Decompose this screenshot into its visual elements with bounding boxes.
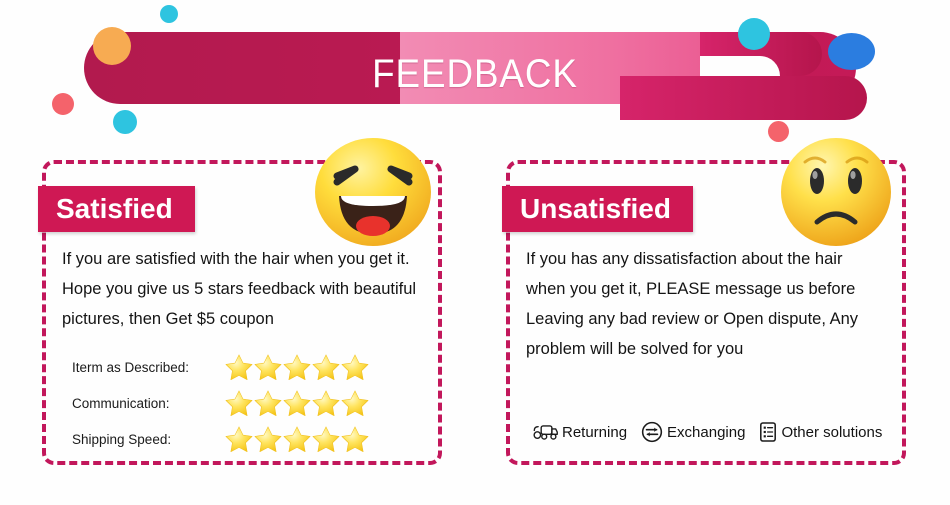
star-icon [282, 424, 312, 454]
star-icon [311, 424, 341, 454]
dot-cyan-top-right [738, 18, 770, 50]
feedback-banner-page: FEEDBACK Satisfied If you are satisfied … [0, 0, 950, 505]
unsatisfied-description: If you has any dissatisfaction about the… [526, 244, 886, 364]
solutions-row: Returning Exchanging [532, 421, 896, 443]
satisfied-badge: Satisfied [38, 186, 195, 232]
rating-label-communication: Communication: [72, 396, 220, 411]
rating-row: Shipping Speed: [72, 421, 437, 457]
star-icon [253, 388, 283, 418]
solution-label: Exchanging [667, 424, 745, 441]
star-icon [253, 424, 283, 454]
rating-row: Iterm as Described: [72, 349, 437, 385]
star-icon [224, 424, 254, 454]
exchange-arrows-icon [641, 421, 663, 443]
rating-row: Communication: [72, 385, 437, 421]
header-banner: FEEDBACK [0, 0, 950, 140]
truck-icon [532, 422, 558, 442]
unsatisfied-badge: Unsatisfied [502, 186, 693, 232]
star-icon [311, 388, 341, 418]
star-icon [340, 352, 370, 382]
solution-label: Returning [562, 424, 627, 441]
laughing-face-emoji [313, 136, 433, 253]
dot-blue-right [828, 33, 875, 70]
satisfied-description: If you are satisfied with the hair when … [62, 244, 447, 334]
star-rating-communication [224, 388, 369, 418]
star-icon [340, 388, 370, 418]
solution-other-solutions[interactable]: Other solutions [759, 421, 882, 443]
dot-orange-left [93, 27, 131, 65]
star-rating-item-as-described [224, 352, 369, 382]
star-icon [282, 352, 312, 382]
sad-face-emoji [779, 136, 893, 253]
satisfied-ratings: Iterm as Described: Communication: [72, 349, 437, 457]
star-icon [282, 388, 312, 418]
star-icon [253, 352, 283, 382]
star-icon [224, 388, 254, 418]
dot-coral-bottom-left [52, 93, 74, 115]
page-title: FEEDBACK [38, 52, 912, 97]
document-list-icon [759, 421, 777, 443]
solution-label: Other solutions [781, 424, 882, 441]
star-rating-shipping-speed [224, 424, 369, 454]
dot-cyan-top-left [160, 5, 178, 23]
star-icon [224, 352, 254, 382]
dot-cyan-bottom-left [113, 110, 137, 134]
star-icon [340, 424, 370, 454]
solution-returning[interactable]: Returning [532, 422, 627, 442]
rating-label-item-as-described: Iterm as Described: [72, 360, 220, 375]
rating-label-shipping-speed: Shipping Speed: [72, 432, 220, 447]
solution-exchanging[interactable]: Exchanging [641, 421, 745, 443]
star-icon [311, 352, 341, 382]
